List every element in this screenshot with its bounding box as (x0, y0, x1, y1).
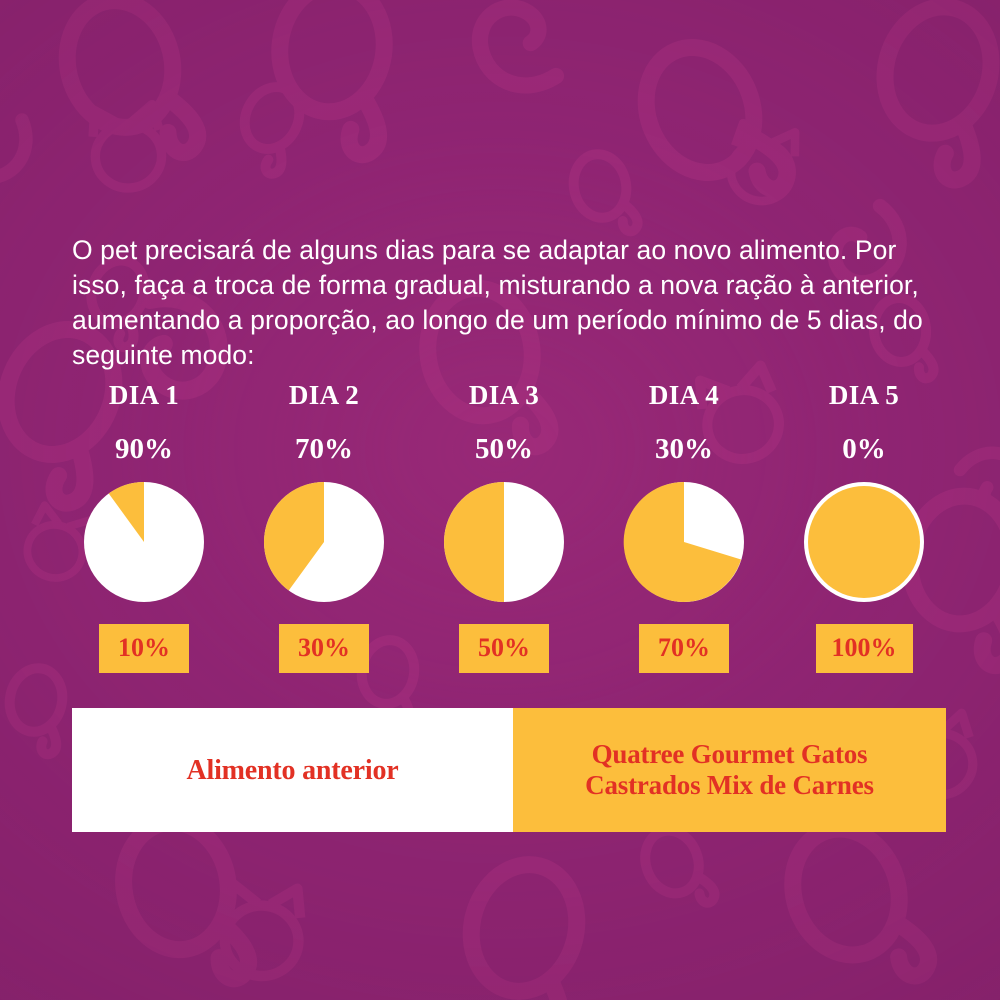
new-food-badge: 100% (816, 624, 913, 673)
pie-chart-day-5 (802, 480, 926, 604)
new-food-badge: 70% (639, 624, 729, 673)
day-column-3: DIA 3 50% 50% (414, 382, 594, 673)
poster-canvas: O pet precisará de alguns dias para se a… (0, 0, 1000, 1000)
pie-chart-day-1 (82, 480, 206, 604)
legend-previous-food-label: Alimento anterior (187, 755, 399, 786)
previous-food-percent: 0% (842, 435, 886, 464)
previous-food-percent: 70% (295, 435, 353, 464)
day-label: DIA 1 (109, 382, 179, 409)
day-columns: DIA 1 90% 10% DIA 2 70% 30% DIA 3 50% (54, 382, 954, 673)
previous-food-percent: 50% (475, 435, 533, 464)
new-food-badge: 10% (99, 624, 189, 673)
legend-new-food: Quatree Gourmet Gatos Castrados Mix de C… (513, 708, 946, 832)
previous-food-percent: 90% (115, 435, 173, 464)
legend-bar: Alimento anterior Quatree Gourmet Gatos … (72, 708, 946, 832)
legend-new-food-label: Quatree Gourmet Gatos Castrados Mix de C… (585, 739, 874, 801)
day-label: DIA 2 (289, 382, 359, 409)
pie-chart-day-3 (442, 480, 566, 604)
legend-previous-food: Alimento anterior (72, 708, 513, 832)
day-label: DIA 5 (829, 382, 899, 409)
day-column-2: DIA 2 70% 30% (234, 382, 414, 673)
new-food-badge: 50% (459, 624, 549, 673)
pie-chart-day-2 (262, 480, 386, 604)
intro-paragraph: O pet precisará de alguns dias para se a… (72, 233, 952, 373)
previous-food-percent: 30% (655, 435, 713, 464)
day-column-1: DIA 1 90% 10% (54, 382, 234, 673)
day-column-5: DIA 5 0% 100% (774, 382, 954, 673)
pie-chart-day-4 (622, 480, 746, 604)
day-label: DIA 4 (649, 382, 719, 409)
day-column-4: DIA 4 30% 70% (594, 382, 774, 673)
new-food-badge: 30% (279, 624, 369, 673)
day-label: DIA 3 (469, 382, 539, 409)
